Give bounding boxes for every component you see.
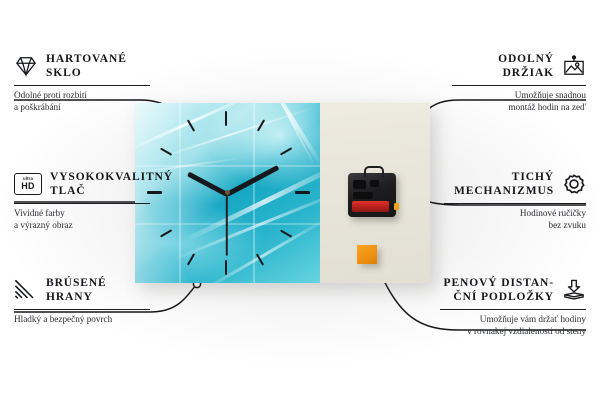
feature-title-line-2: ČNÍ PODLOŽKY — [453, 291, 554, 303]
feature-desc-line-2: a poškrábání — [14, 102, 61, 112]
second-hand — [226, 194, 228, 256]
feature-desc-line-2: montáž hodin na zeď — [508, 102, 586, 112]
picture-hanger-icon — [562, 55, 586, 77]
movement-hanger — [364, 166, 384, 177]
feature-title-line-2: MECHANIZMUS — [454, 185, 554, 197]
feature-desc-line-1: Vividné farby — [14, 208, 65, 218]
feature-title-line-2: TLAČ — [50, 185, 86, 197]
feature-desc-line-2: bez zvuku — [549, 220, 587, 230]
clock-hub — [225, 190, 230, 195]
feature-desc-line-2: v rovnakej vzdialenosti od steny — [467, 326, 586, 336]
feature-title-line-2: SKLO — [46, 67, 82, 79]
feature-title-line-1: ODOLNÝ — [498, 53, 554, 65]
feature-desc-line-1: Umožňuje snadnou — [515, 90, 586, 100]
down-arrow-pad-icon — [562, 279, 586, 301]
divider — [440, 309, 586, 310]
badge-hd-text: HD — [21, 182, 35, 191]
feature-hardened-glass: HARTOVANÉ SKLO Odolné proti rozbití a po… — [14, 52, 150, 113]
feature-title-line-2: DRŽIAK — [503, 67, 554, 79]
diamond-icon — [14, 55, 38, 77]
feature-title-line-1: BRÚSENÉ — [46, 277, 107, 289]
divider — [14, 203, 150, 204]
divider — [14, 309, 150, 310]
foam-spacer-pad — [357, 245, 377, 264]
feature-title-line-1: VYSOKOKVALITNÝ — [50, 171, 173, 183]
feature-title-line-1: HARTOVANÉ — [46, 53, 127, 65]
feature-desc-line-1: Hladký a bezpečný povrch — [14, 314, 112, 324]
divider — [444, 203, 586, 204]
feature-high-quality-print: ultra HD VYSOKOKVALITNÝ TLAČ Vividné far… — [14, 170, 150, 231]
battery — [352, 201, 389, 212]
divider — [452, 85, 586, 86]
clock-movement — [348, 173, 396, 217]
feature-silent-mechanism: TICHÝ MECHANIZMUS Hodinové ručičky bez z… — [444, 170, 586, 231]
product-photo — [135, 103, 430, 283]
feature-desc-line-2: a výrazný obraz — [14, 220, 73, 230]
feature-title-line-1: TICHÝ — [512, 171, 554, 183]
feature-desc-line-1: Odolné proti rozbití — [14, 90, 87, 100]
feature-ground-edges: BRÚSENÉ HRANY Hladký a bezpečný povrch — [14, 276, 150, 326]
feature-durable-holder: ODOLNÝ DRŽIAK Umožňuje snadnou montáž ho… — [452, 52, 586, 113]
battery-terminal — [394, 203, 399, 210]
ultra-hd-badge-icon: ultra HD — [14, 173, 42, 195]
feature-title-line-1: PENOVÝ DISTAN- — [444, 277, 554, 289]
gear-icon — [562, 173, 586, 195]
divider — [14, 85, 150, 86]
hatched-edge-icon — [14, 279, 38, 301]
feature-desc-line-1: Hodinové ručičky — [520, 208, 586, 218]
feature-desc-line-1: Umožňuje vám držať hodiny — [480, 314, 586, 324]
feature-title-line-2: HRANY — [46, 291, 93, 303]
infographic-canvas: HARTOVANÉ SKLO Odolné proti rozbití a po… — [0, 0, 600, 400]
feature-foam-spacers: PENOVÝ DISTAN- ČNÍ PODLOŽKY Umožňuje vám… — [440, 276, 586, 337]
hour-hand — [187, 172, 228, 197]
